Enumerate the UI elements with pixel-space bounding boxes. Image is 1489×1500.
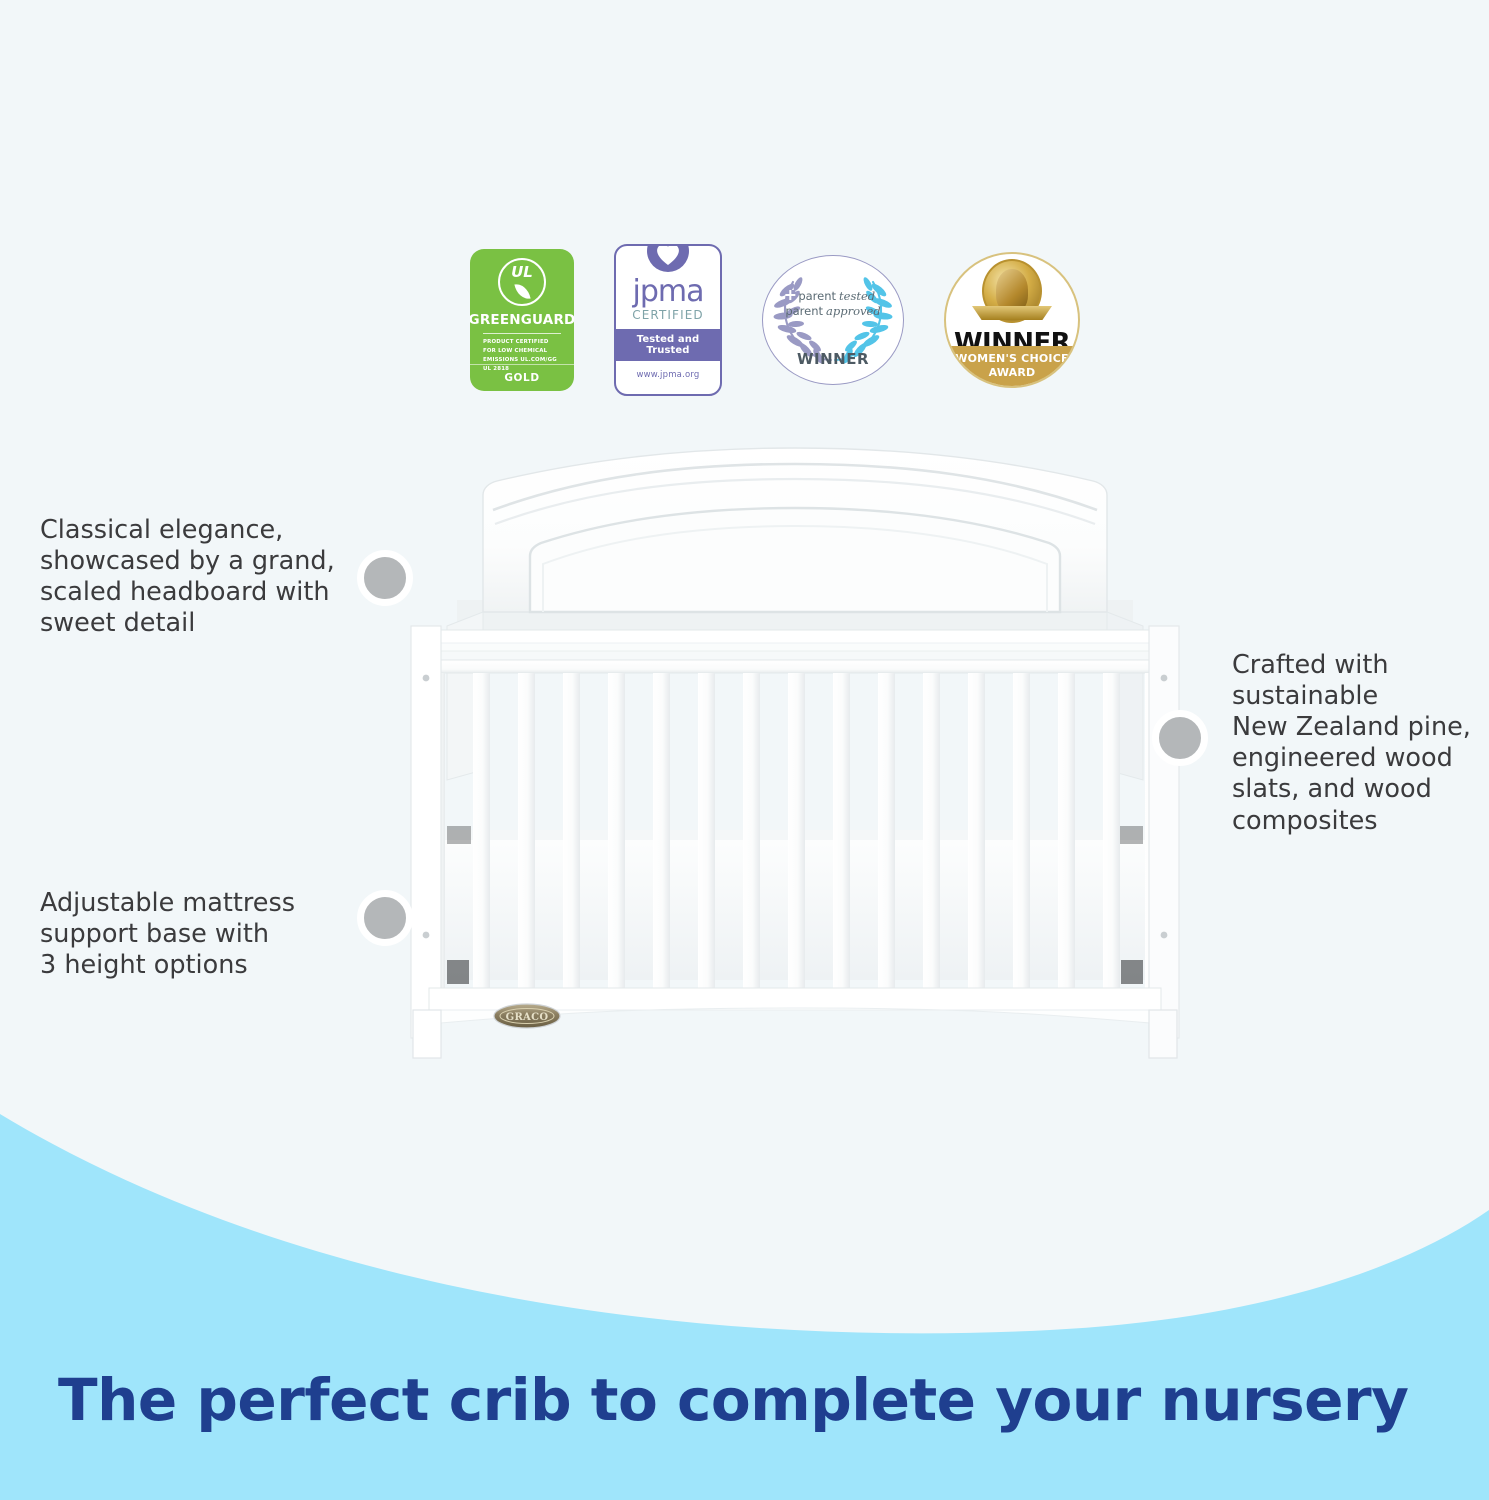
leaf-icon [514,282,530,301]
graco-logo-plate: GRACO [494,1004,560,1028]
bottom-wave-band [0,1080,1489,1500]
jpma-badge: jpma CERTIFIED Tested and Trusted www.jp… [614,244,722,396]
callout-text-mattress-base: Adjustable mattress support base with 3 … [40,888,340,981]
greenguard-name: GREENGUARD [470,312,574,328]
callout-text-materials: Crafted with sustainable New Zealand pin… [1232,650,1482,837]
jpma-heart-icon [645,244,691,273]
callout-dot-materials[interactable] [1152,710,1208,766]
callout-dot-mattress-base[interactable] [357,890,413,946]
callout-dot-headboard[interactable] [357,550,413,606]
ptpa-badge: parent tested parent approved WINNER [762,255,904,385]
ptpa-wordmark: parent tested parent approved [785,289,880,318]
ribbon-icon [972,306,1052,320]
wave-shape [0,1114,1489,1500]
ul-mark-text: UL [511,263,533,281]
greenguard-level: GOLD [504,372,539,384]
ul-greenguard-icon: UL [498,258,546,306]
wca-award-line2: AWARD [989,366,1036,380]
ptpa-award-label: WINNER [763,350,903,368]
womens-choice-award-badge: WINNER WOMEN'S CHOICE AWARD [944,252,1080,388]
wca-award-band: WOMEN'S CHOICE AWARD [946,346,1078,386]
headline-text: The perfect crib to complete your nurser… [58,1370,1358,1431]
wca-award-line1: WOMEN'S CHOICE [955,352,1068,366]
ptpa-line1-script: tested [839,289,875,303]
certification-badge-row: UL GREENGUARD PRODUCT CERTIFIED FOR LOW … [470,240,1080,400]
ptpa-line1-plain: parent [798,289,836,303]
crib-product-image: GRACO [385,440,1205,1060]
ptpa-line2-plain: parent [785,304,823,318]
greenguard-level-bar: GOLD [470,364,574,391]
ptpa-line2-script: approved [826,304,881,318]
greenguard-badge: UL GREENGUARD PRODUCT CERTIFIED FOR LOW … [470,249,574,391]
jpma-wordmark: jpma [633,277,704,307]
divider [483,333,561,334]
svg-text:GRACO: GRACO [506,1012,549,1023]
jpma-certified-label: CERTIFIED [632,308,703,322]
jpma-url: www.jpma.org [636,370,699,380]
callout-text-headboard: Classical elegance, showcased by a grand… [40,515,340,639]
jpma-tagline: Tested and Trusted [616,329,720,361]
window-square-icon [785,290,795,300]
product-infographic: UL GREENGUARD PRODUCT CERTIFIED FOR LOW … [0,0,1489,1500]
